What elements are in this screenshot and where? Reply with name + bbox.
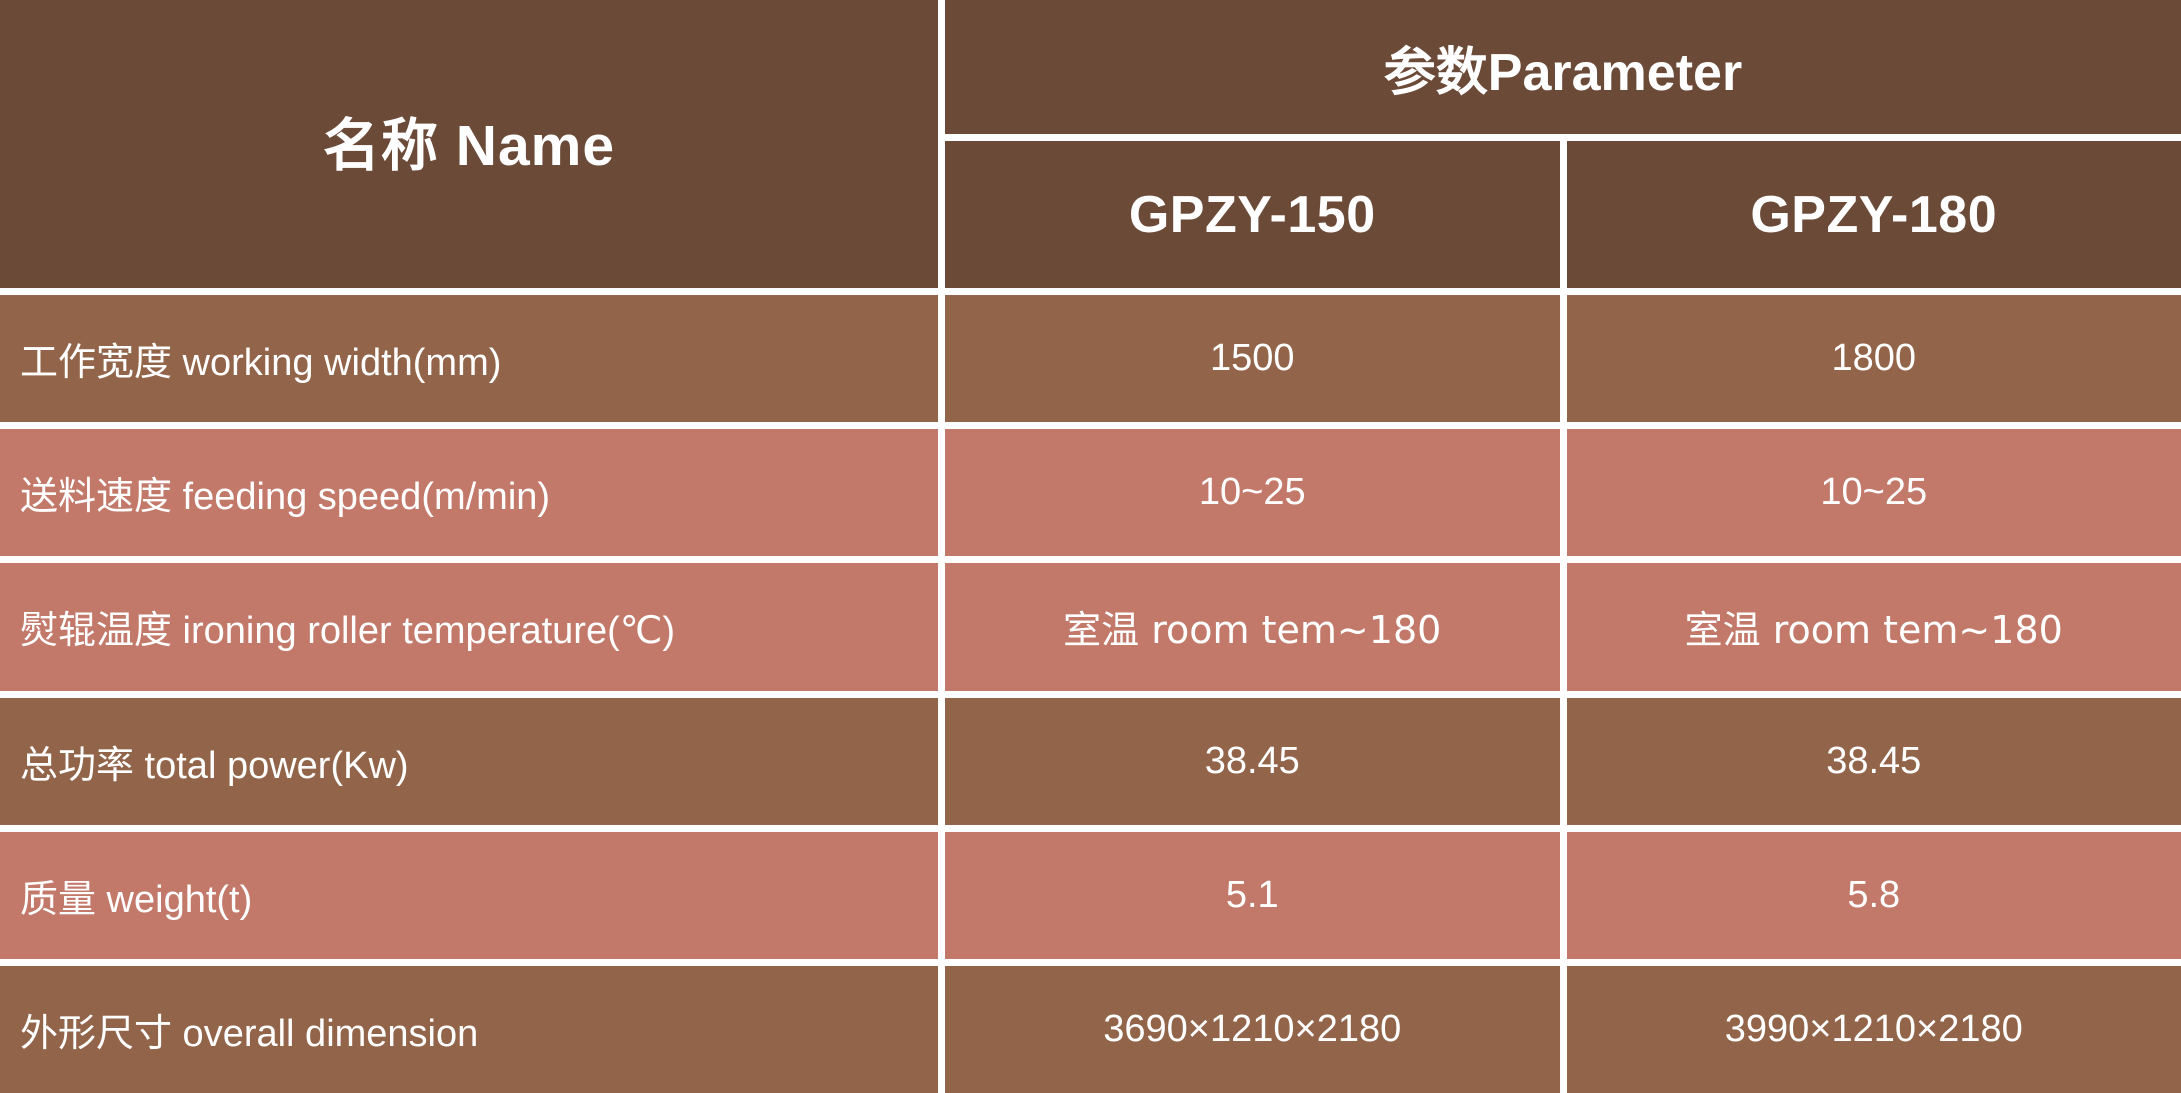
table-row: 送料速度 feeding speed(m/min) 10~25 10~25	[0, 429, 2181, 556]
row-value-ironing-roller-temperature-150: 室温 room tem~180	[945, 563, 1560, 690]
header-model-row: GPZY-150 GPZY-180	[945, 141, 2181, 288]
header-cell-name: 名称 Name	[0, 0, 938, 288]
row-value-total-power-180: 38.45	[1567, 698, 2181, 825]
row-value-ironing-roller-temperature-180: 室温 room tem~180	[1567, 563, 2181, 690]
table-body: 工作宽度 working width(mm) 1500 1800 送料速度 fe…	[0, 288, 2181, 1093]
row-value-working-width-150: 1500	[945, 295, 1560, 422]
table-row: 外形尺寸 overall dimension 3690×1210×2180 39…	[0, 966, 2181, 1093]
header-cell-model-gpzy-150: GPZY-150	[945, 141, 1560, 288]
specification-table: 名称 Name 参数Parameter GPZY-150 GPZY-180 工作…	[0, 0, 2181, 1093]
table-row: 熨辊温度 ironing roller temperature(℃) 室温 ro…	[0, 563, 2181, 690]
table-row: 质量 weight(t) 5.1 5.8	[0, 832, 2181, 959]
row-name-feeding-speed: 送料速度 feeding speed(m/min)	[0, 429, 938, 556]
row-value-feeding-speed-180: 10~25	[1567, 429, 2181, 556]
row-value-feeding-speed-150: 10~25	[945, 429, 1560, 556]
row-value-overall-dimension-180: 3990×1210×2180	[1567, 966, 2181, 1093]
row-name-working-width: 工作宽度 working width(mm)	[0, 295, 938, 422]
row-name-total-power: 总功率 total power(Kw)	[0, 698, 938, 825]
header-cell-parameter: 参数Parameter	[945, 0, 2181, 134]
header-parameter-group: 参数Parameter GPZY-150 GPZY-180	[945, 0, 2181, 288]
row-value-total-power-150: 38.45	[945, 698, 1560, 825]
table-header: 名称 Name 参数Parameter GPZY-150 GPZY-180	[0, 0, 2181, 288]
table-row: 工作宽度 working width(mm) 1500 1800	[0, 295, 2181, 422]
row-value-weight-150: 5.1	[945, 832, 1560, 959]
row-value-weight-180: 5.8	[1567, 832, 2181, 959]
row-name-overall-dimension: 外形尺寸 overall dimension	[0, 966, 938, 1093]
row-value-overall-dimension-150: 3690×1210×2180	[945, 966, 1560, 1093]
table-row: 总功率 total power(Kw) 38.45 38.45	[0, 698, 2181, 825]
header-cell-model-gpzy-180: GPZY-180	[1567, 141, 2181, 288]
row-name-weight: 质量 weight(t)	[0, 832, 938, 959]
row-name-ironing-roller-temperature: 熨辊温度 ironing roller temperature(℃)	[0, 563, 938, 690]
row-value-working-width-180: 1800	[1567, 295, 2181, 422]
